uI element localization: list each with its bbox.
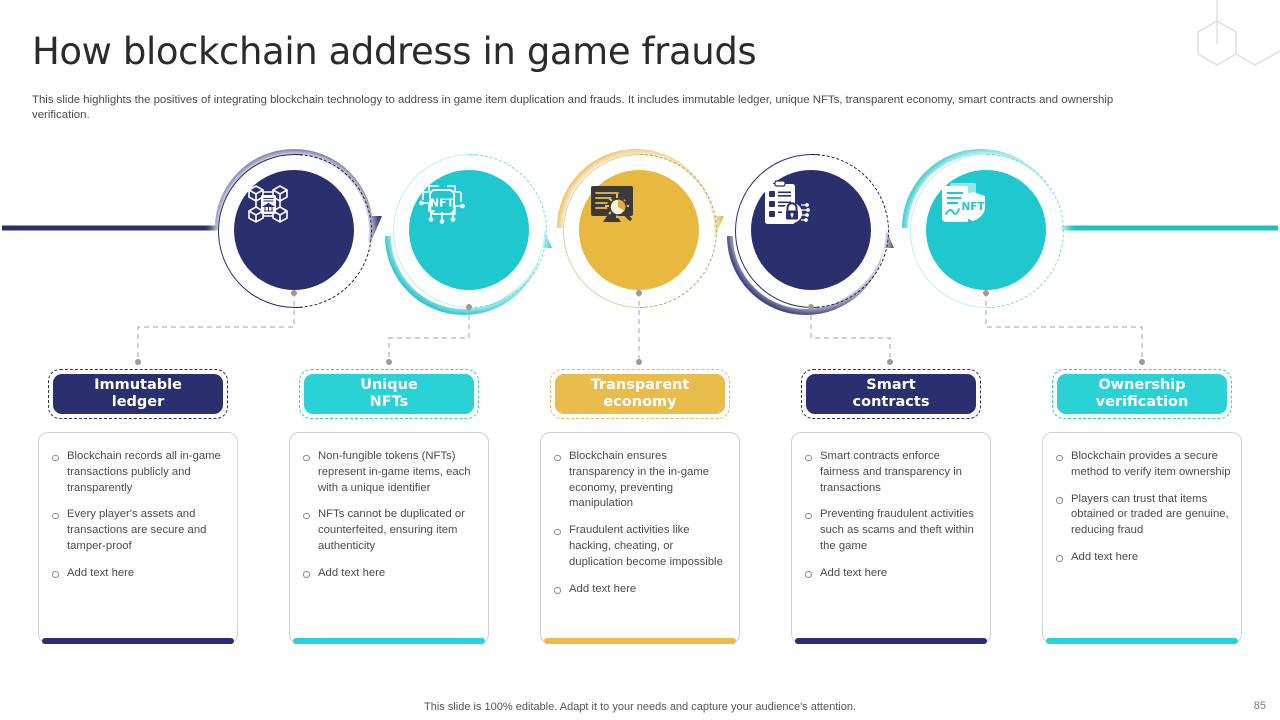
chip-label-line2: economy (603, 394, 676, 411)
chip-label-line1: Ownership (1098, 377, 1185, 394)
list-item: Add text here (47, 566, 227, 582)
bullet-list: Blockchain ensures transparency in the i… (549, 449, 729, 597)
connector-lines (0, 290, 1280, 375)
page-subtitle: This slide highlights the positives of i… (32, 93, 1142, 122)
step-chip-immutable-ledger[interactable]: Immutable ledger (48, 369, 228, 419)
monitor-analytics-icon (579, 170, 645, 236)
list-item: Blockchain provides a secure method to v… (1051, 449, 1231, 481)
list-item: Add text here (298, 566, 478, 582)
list-item: Blockchain ensures transparency in the i… (549, 449, 729, 512)
list-item: Fraudulent activities like hacking, chea… (549, 523, 729, 570)
signed-document-nft-icon: NFT (926, 170, 992, 236)
bullet-list: Blockchain provides a secure method to v… (1051, 449, 1231, 566)
list-item: Add text here (1051, 550, 1231, 566)
chip-label-line2: verification (1096, 394, 1189, 411)
svg-text:NFT: NFT (430, 197, 455, 210)
slide-root: How blockchain address in game frauds Th… (0, 0, 1280, 720)
content-card-smart-contracts: Smart contracts enforce fairness and tra… (791, 432, 991, 644)
flow-node-immutable-ledger[interactable] (218, 154, 370, 306)
chip-label-line2: ledger (112, 394, 165, 411)
flow-node-transparent-economy[interactable] (563, 154, 715, 306)
flow-node-ownership-verification[interactable]: NFT (910, 154, 1062, 306)
card-accent-bar (1046, 638, 1238, 644)
step-chip-unique-nfts[interactable]: Unique NFTs (299, 369, 479, 419)
chip-label-line2: NFTs (370, 394, 409, 411)
chip-label-line1: Unique (360, 377, 418, 394)
chip-label-line1: Immutable (94, 377, 182, 394)
nft-chip-icon: NFT (409, 170, 475, 236)
card-accent-bar (293, 638, 485, 644)
list-item: Add text here (549, 582, 729, 598)
list-item: Players can trust that items obtained or… (1051, 492, 1231, 539)
bullet-list: Non-fungible tokens (NFTs) represent in-… (298, 449, 478, 582)
card-accent-bar (795, 638, 987, 644)
svg-text:NFT: NFT (961, 201, 985, 213)
page-number: 85 (1254, 700, 1266, 712)
content-card-transparent-economy: Blockchain ensures transparency in the i… (540, 432, 740, 644)
step-chip-smart-contracts[interactable]: Smart contracts (801, 369, 981, 419)
bullet-list: Blockchain records all in-game transacti… (47, 449, 227, 582)
flow-node-unique-nfts[interactable]: NFT (393, 154, 545, 306)
list-item: Every player's assets and transactions a… (47, 507, 227, 554)
bullet-list: Smart contracts enforce fairness and tra… (800, 449, 980, 582)
list-item: NFTs cannot be duplicated or counterfeit… (298, 507, 478, 554)
footer-note: This slide is 100% editable. Adapt it to… (0, 701, 1280, 713)
content-card-immutable-ledger: Blockchain records all in-game transacti… (38, 432, 238, 644)
step-chip-transparent-economy[interactable]: Transparent economy (550, 369, 730, 419)
list-item: Preventing fraudulent activities such as… (800, 507, 980, 554)
content-card-unique-nfts: Non-fungible tokens (NFTs) represent in-… (289, 432, 489, 644)
contract-lock-icon (751, 170, 817, 236)
card-accent-bar (544, 638, 736, 644)
chip-label-line2: contracts (853, 394, 930, 411)
step-chip-ownership-verification[interactable]: Ownership verification (1052, 369, 1232, 419)
list-item: Blockchain records all in-game transacti… (47, 449, 227, 496)
chip-label-line1: Smart (866, 377, 915, 394)
card-accent-bar (42, 638, 234, 644)
content-card-ownership-verification: Blockchain provides a secure method to v… (1042, 432, 1242, 644)
list-item: Add text here (800, 566, 980, 582)
list-item: Non-fungible tokens (NFTs) represent in-… (298, 449, 478, 496)
page-title: How blockchain address in game frauds (32, 30, 756, 73)
chip-label-line1: Transparent (591, 377, 690, 394)
blockchain-network-icon (234, 170, 302, 238)
flow-node-smart-contracts[interactable] (735, 154, 887, 306)
list-item: Smart contracts enforce fairness and tra… (800, 449, 980, 496)
hexagon-decoration-icon (1170, 0, 1280, 100)
